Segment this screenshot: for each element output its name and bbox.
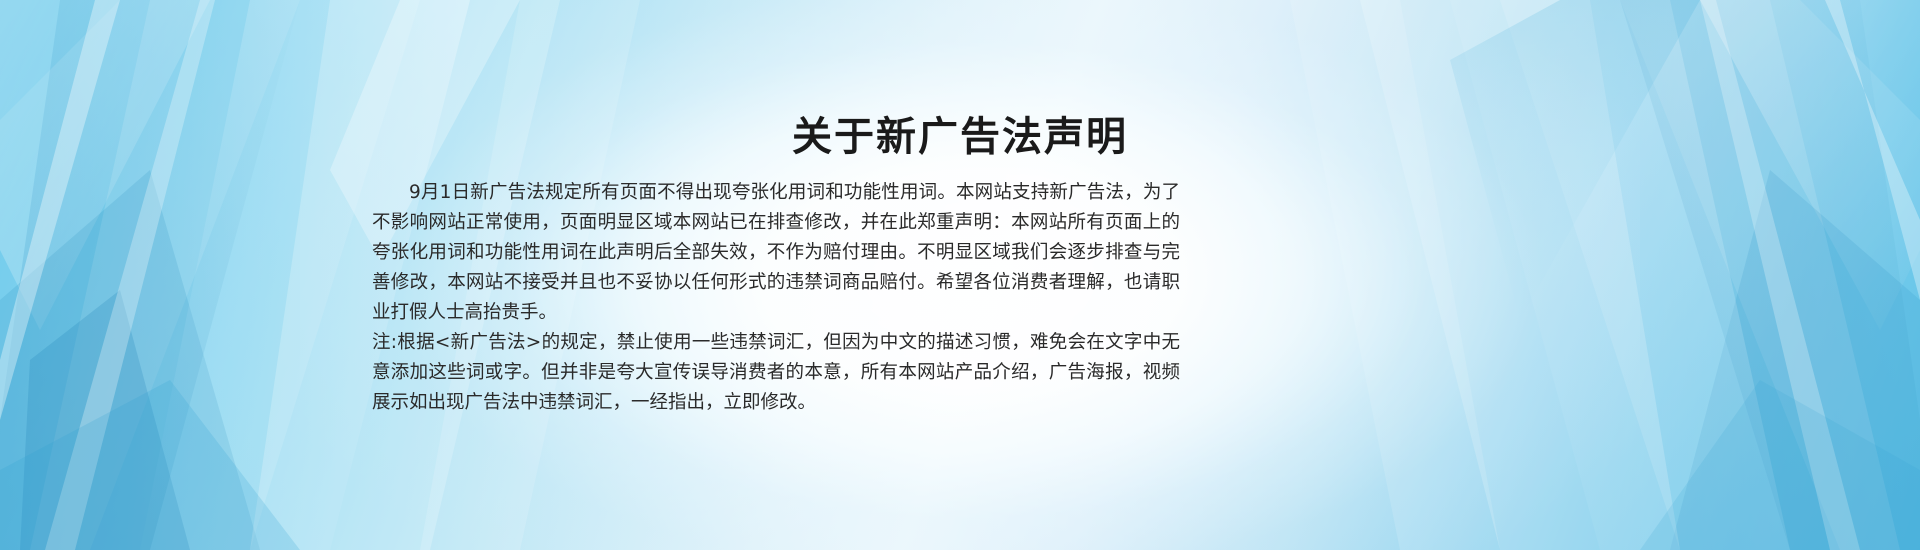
banner-stage: 关于新广告法声明 9月1日新广告法规定所有页面不得出现夸张化用词和功能性用词。本… [0,0,1920,550]
page-title: 关于新广告法声明 [0,113,1920,161]
statement-body: 9月1日新广告法规定所有页面不得出现夸张化用词和功能性用词。本网站支持新广告法，… [372,178,1180,418]
statement-paragraph-2: 注:根据<新广告法>的规定，禁止使用一些违禁词汇，但因为中文的描述习惯，难免会在… [372,328,1180,418]
statement-content: 关于新广告法声明 9月1日新广告法规定所有页面不得出现夸张化用词和功能性用词。本… [0,0,1920,550]
statement-paragraph-1: 9月1日新广告法规定所有页面不得出现夸张化用词和功能性用词。本网站支持新广告法，… [372,178,1180,328]
